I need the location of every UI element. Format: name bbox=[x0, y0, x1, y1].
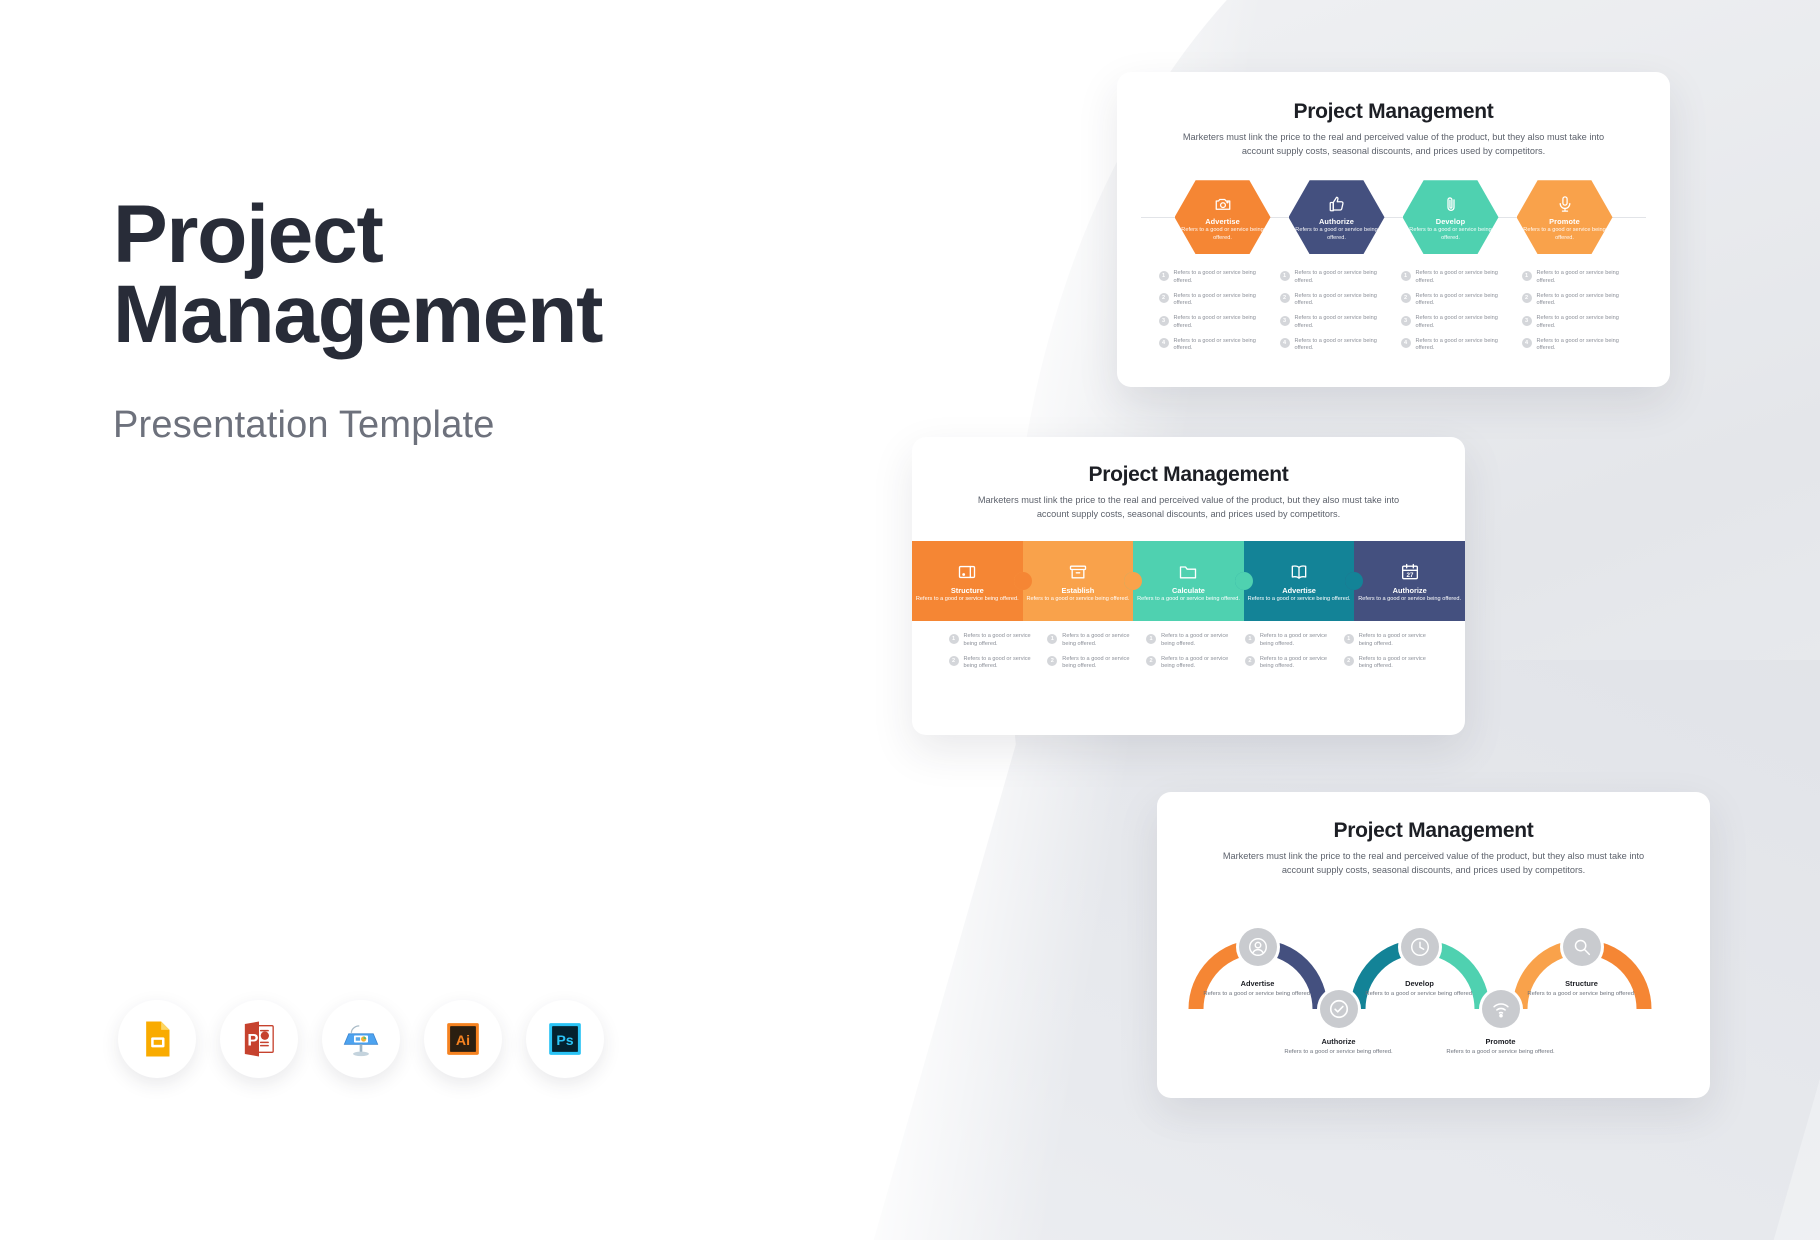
bullet-text: Refers to a good or service being offere… bbox=[1416, 315, 1508, 330]
hexagon-sublabel: Refers to a good or service being offere… bbox=[1517, 227, 1613, 242]
bullet-item: 2Refers to a good or service being offer… bbox=[1522, 293, 1629, 308]
arc-label-develop: Develop Refers to a good or service bein… bbox=[1360, 979, 1480, 998]
puzzle-sublabel: Refers to a good or service being offere… bbox=[1026, 596, 1129, 604]
bullet-item: 4Refers to a good or service being offer… bbox=[1401, 338, 1508, 353]
bullet-number: 1 bbox=[1344, 634, 1354, 644]
arc-label-name: Develop bbox=[1360, 979, 1480, 988]
hexagon-label: Develop bbox=[1436, 217, 1465, 226]
bullet-item: 3Refers to a good or service being offer… bbox=[1159, 315, 1266, 330]
svg-text:P: P bbox=[247, 1031, 258, 1050]
bullet-item: 3Refers to a good or service being offer… bbox=[1522, 315, 1629, 330]
bullet-item: 2Refers to a good or service being offer… bbox=[1146, 656, 1231, 671]
bullet-item: 1Refers to a good or service being offer… bbox=[1344, 633, 1429, 648]
bullet-column: 1Refers to a good or service being offer… bbox=[1245, 633, 1330, 671]
bullet-text: Refers to a good or service being offere… bbox=[1537, 270, 1629, 285]
app-chip-keynote[interactable] bbox=[322, 1000, 400, 1078]
bullet-text: Refers to a good or service being offere… bbox=[1537, 338, 1629, 353]
check-icon bbox=[1328, 998, 1350, 1020]
arc-label-structure: Structure Refers to a good or service be… bbox=[1522, 979, 1642, 998]
hexagon-sublabel: Refers to a good or service being offere… bbox=[1175, 227, 1271, 242]
bullet-number: 1 bbox=[1146, 634, 1156, 644]
bullet-item: 2Refers to a good or service being offer… bbox=[1280, 293, 1387, 308]
bullet-number: 4 bbox=[1280, 338, 1290, 348]
bullet-text: Refers to a good or service being offere… bbox=[1260, 656, 1330, 671]
bullet-number: 2 bbox=[949, 656, 959, 666]
bullet-item: 2Refers to a good or service being offer… bbox=[1159, 293, 1266, 308]
hexagon-label: Advertise bbox=[1205, 217, 1240, 226]
bullet-number: 1 bbox=[1522, 271, 1532, 281]
bullet-item: 1Refers to a good or service being offer… bbox=[1280, 270, 1387, 285]
puzzle-sublabel: Refers to a good or service being offere… bbox=[916, 596, 1019, 604]
slide-hex-description: Marketers must link the price to the rea… bbox=[1179, 131, 1609, 158]
page-root: Project Management Presentation Template… bbox=[0, 0, 1820, 1240]
bullet-text: Refers to a good or service being offere… bbox=[1161, 656, 1231, 671]
puzzle-knob bbox=[1014, 572, 1032, 590]
arc-node-authorize[interactable] bbox=[1320, 990, 1358, 1028]
bullet-number: 2 bbox=[1245, 656, 1255, 666]
photoshop-icon: Ps bbox=[545, 1019, 585, 1059]
bullet-item: 4Refers to a good or service being offer… bbox=[1159, 338, 1266, 353]
paperclip-icon bbox=[1442, 194, 1460, 214]
arc-label-sub: Refers to a good or service being offere… bbox=[1360, 990, 1480, 998]
puzzle-item-calculate[interactable]: Calculate Refers to a good or service be… bbox=[1133, 541, 1244, 621]
bullet-number: 1 bbox=[1280, 271, 1290, 281]
bullet-item: 2Refers to a good or service being offer… bbox=[1047, 656, 1132, 671]
puzzle-knob bbox=[1124, 572, 1142, 590]
bullet-item: 1Refers to a good or service being offer… bbox=[1047, 633, 1132, 648]
puzzle-item-authorize[interactable]: 27 Authorize Refers to a good or service… bbox=[1354, 541, 1465, 621]
arc-label-sub: Refers to a good or service being offere… bbox=[1279, 1048, 1399, 1056]
powerpoint-icon: P bbox=[239, 1019, 279, 1059]
svg-text:Ai: Ai bbox=[456, 1033, 470, 1049]
bullet-column: 1Refers to a good or service being offer… bbox=[1159, 270, 1266, 353]
bullet-text: Refers to a good or service being offere… bbox=[1295, 315, 1387, 330]
box-icon bbox=[1068, 561, 1088, 583]
app-chip-photoshop[interactable]: Ps bbox=[526, 1000, 604, 1078]
bullet-number: 4 bbox=[1401, 338, 1411, 348]
bullet-text: Refers to a good or service being offere… bbox=[1295, 293, 1387, 308]
bullet-number: 1 bbox=[1245, 634, 1255, 644]
slide-arc-title: Project Management bbox=[1157, 819, 1710, 843]
bullet-text: Refers to a good or service being offere… bbox=[1416, 270, 1508, 285]
bullet-number: 2 bbox=[1280, 293, 1290, 303]
microphone-icon bbox=[1556, 194, 1574, 214]
bullet-text: Refers to a good or service being offere… bbox=[1537, 293, 1629, 308]
hexagon-sublabel: Refers to a good or service being offere… bbox=[1289, 227, 1385, 242]
arc-diagram: Advertise Refers to a good or service be… bbox=[1184, 887, 1684, 1077]
arc-node-develop[interactable] bbox=[1401, 928, 1439, 966]
camera-icon bbox=[1214, 194, 1232, 214]
bullet-number: 2 bbox=[1344, 656, 1354, 666]
person-icon bbox=[1247, 936, 1269, 958]
calendar-icon: 27 bbox=[1400, 561, 1420, 583]
puzzle-sublabel: Refers to a good or service being offere… bbox=[1137, 596, 1240, 604]
arc-label-sub: Refers to a good or service being offere… bbox=[1522, 990, 1642, 998]
illustrator-icon: Ai bbox=[443, 1019, 483, 1059]
bullet-number: 1 bbox=[1159, 271, 1169, 281]
puzzle-item-advertise[interactable]: Advertise Refers to a good or service be… bbox=[1244, 541, 1355, 621]
bullet-number: 2 bbox=[1146, 656, 1156, 666]
puzzle-sublabel: Refers to a good or service being offere… bbox=[1248, 596, 1351, 604]
bullet-number: 2 bbox=[1522, 293, 1532, 303]
bullet-item: 1Refers to a good or service being offer… bbox=[1159, 270, 1266, 285]
slide-hex-title: Project Management bbox=[1117, 100, 1670, 124]
puzzle-label: Establish bbox=[1061, 586, 1094, 595]
arc-node-promote[interactable] bbox=[1482, 990, 1520, 1028]
hexagon-bullet-grid: 1Refers to a good or service being offer… bbox=[1159, 270, 1629, 353]
bullet-text: Refers to a good or service being offere… bbox=[1416, 338, 1508, 353]
hero-block: Project Management Presentation Template bbox=[113, 195, 753, 447]
bullet-number: 3 bbox=[1280, 316, 1290, 326]
bullet-item: 2Refers to a good or service being offer… bbox=[1245, 656, 1330, 671]
bullet-item: 4Refers to a good or service being offer… bbox=[1280, 338, 1387, 353]
puzzle-label: Structure bbox=[951, 586, 984, 595]
slide-puzzle-description: Marketers must link the price to the rea… bbox=[974, 494, 1404, 521]
bullet-number: 3 bbox=[1522, 316, 1532, 326]
book-icon bbox=[957, 561, 977, 583]
bullet-text: Refers to a good or service being offere… bbox=[1295, 338, 1387, 353]
bullet-text: Refers to a good or service being offere… bbox=[1062, 633, 1132, 648]
hexagon-item-authorize[interactable]: Authorize Refers to a good or service be… bbox=[1289, 180, 1385, 254]
puzzle-knob bbox=[1235, 572, 1253, 590]
bullet-column: 1Refers to a good or service being offer… bbox=[1401, 270, 1508, 353]
puzzle-label: Advertise bbox=[1282, 586, 1316, 595]
page-subtitle: Presentation Template bbox=[113, 404, 753, 447]
bullet-column: 1Refers to a good or service being offer… bbox=[1280, 270, 1387, 353]
arc-label-name: Promote bbox=[1441, 1037, 1561, 1046]
bullet-text: Refers to a good or service being offere… bbox=[1161, 633, 1231, 648]
puzzle-sublabel: Refers to a good or service being offere… bbox=[1358, 596, 1461, 604]
bullet-item: 2Refers to a good or service being offer… bbox=[1401, 293, 1508, 308]
arc-node-structure[interactable] bbox=[1563, 928, 1601, 966]
puzzle-knob bbox=[1345, 572, 1363, 590]
bullet-number: 4 bbox=[1522, 338, 1532, 348]
bullet-item: 1Refers to a good or service being offer… bbox=[1522, 270, 1629, 285]
puzzle-diagram: Structure Refers to a good or service be… bbox=[912, 541, 1465, 621]
slide-puzzle-title: Project Management bbox=[912, 463, 1465, 487]
hexagon-sublabel: Refers to a good or service being offere… bbox=[1403, 227, 1499, 242]
puzzle-label: Authorize bbox=[1393, 586, 1427, 595]
bullet-number: 3 bbox=[1401, 316, 1411, 326]
arc-label-authorize: Authorize Refers to a good or service be… bbox=[1279, 1037, 1399, 1056]
slide-card-arc[interactable]: Project Management Marketers must link t… bbox=[1157, 792, 1710, 1098]
bullet-text: Refers to a good or service being offere… bbox=[1174, 338, 1266, 353]
bullet-number: 2 bbox=[1401, 293, 1411, 303]
bullet-text: Refers to a good or service being offere… bbox=[1174, 315, 1266, 330]
hexagon-label: Authorize bbox=[1319, 217, 1354, 226]
app-chip-illustrator[interactable]: Ai bbox=[424, 1000, 502, 1078]
bullet-column: 1Refers to a good or service being offer… bbox=[949, 633, 1034, 671]
bullet-text: Refers to a good or service being offere… bbox=[964, 633, 1034, 648]
arc-label-name: Structure bbox=[1522, 979, 1642, 988]
bullet-number: 1 bbox=[1047, 634, 1057, 644]
bullet-item: 3Refers to a good or service being offer… bbox=[1280, 315, 1387, 330]
keynote-icon bbox=[340, 1018, 382, 1060]
bullet-number: 1 bbox=[949, 634, 959, 644]
bullet-text: Refers to a good or service being offere… bbox=[1174, 270, 1266, 285]
arc-label-advertise: Advertise Refers to a good or service be… bbox=[1198, 979, 1318, 998]
bullet-item: 1Refers to a good or service being offer… bbox=[1245, 633, 1330, 648]
bullet-number: 2 bbox=[1047, 656, 1057, 666]
bullet-column: 1Refers to a good or service being offer… bbox=[1146, 633, 1231, 671]
bullet-item: 3Refers to a good or service being offer… bbox=[1401, 315, 1508, 330]
bullet-column: 1Refers to a good or service being offer… bbox=[1522, 270, 1629, 353]
bullet-number: 1 bbox=[1401, 271, 1411, 281]
open-book-icon bbox=[1289, 561, 1309, 583]
bullet-item: 2Refers to a good or service being offer… bbox=[949, 656, 1034, 671]
clock-icon bbox=[1409, 936, 1431, 958]
wifi-icon bbox=[1490, 998, 1512, 1020]
puzzle-bullet-grid: 1Refers to a good or service being offer… bbox=[949, 633, 1429, 671]
arc-node-advertise[interactable] bbox=[1239, 928, 1277, 966]
arc-label-name: Authorize bbox=[1279, 1037, 1399, 1046]
bullet-text: Refers to a good or service being offere… bbox=[1260, 633, 1330, 648]
app-format-list: P Ai bbox=[118, 1000, 604, 1078]
puzzle-item-establish[interactable]: Establish Refers to a good or service be… bbox=[1023, 541, 1134, 621]
bullet-text: Refers to a good or service being offere… bbox=[1359, 656, 1429, 671]
bullet-column: 1Refers to a good or service being offer… bbox=[1344, 633, 1429, 671]
puzzle-label: Calculate bbox=[1172, 586, 1205, 595]
hexagon-item-promote[interactable]: Promote Refers to a good or service bein… bbox=[1517, 180, 1613, 254]
app-chip-google-slides[interactable] bbox=[118, 1000, 196, 1078]
bullet-column: 1Refers to a good or service being offer… bbox=[1047, 633, 1132, 671]
bullet-item: 1Refers to a good or service being offer… bbox=[1401, 270, 1508, 285]
folder-icon bbox=[1178, 561, 1198, 583]
calendar-day-number: 27 bbox=[1406, 572, 1413, 579]
app-chip-powerpoint[interactable]: P bbox=[220, 1000, 298, 1078]
google-slides-icon bbox=[137, 1019, 177, 1059]
slide-arc-description: Marketers must link the price to the rea… bbox=[1219, 850, 1649, 877]
arc-label-name: Advertise bbox=[1198, 979, 1318, 988]
slide-card-hexagon[interactable]: Project Management Marketers must link t… bbox=[1117, 72, 1670, 387]
svg-text:Ps: Ps bbox=[556, 1033, 573, 1049]
bullet-text: Refers to a good or service being offere… bbox=[1174, 293, 1266, 308]
bullet-number: 3 bbox=[1159, 316, 1169, 326]
bullet-number: 4 bbox=[1159, 338, 1169, 348]
arc-label-sub: Refers to a good or service being offere… bbox=[1441, 1048, 1561, 1056]
hexagon-label: Promote bbox=[1549, 217, 1580, 226]
slide-card-puzzle[interactable]: Project Management Marketers must link t… bbox=[912, 437, 1465, 735]
puzzle-item-structure[interactable]: Structure Refers to a good or service be… bbox=[912, 541, 1023, 621]
hexagon-item-develop[interactable]: Develop Refers to a good or service bein… bbox=[1403, 180, 1499, 254]
page-title: Project Management bbox=[113, 195, 753, 356]
bullet-text: Refers to a good or service being offere… bbox=[1062, 656, 1132, 671]
bullet-item: 1Refers to a good or service being offer… bbox=[1146, 633, 1231, 648]
bullet-item: 4Refers to a good or service being offer… bbox=[1522, 338, 1629, 353]
bullet-text: Refers to a good or service being offere… bbox=[1295, 270, 1387, 285]
page-title-line1: Project bbox=[113, 195, 753, 275]
page-title-line2: Management bbox=[113, 275, 753, 355]
hexagon-item-advertise[interactable]: Advertise Refers to a good or service be… bbox=[1175, 180, 1271, 254]
arc-label-promote: Promote Refers to a good or service bein… bbox=[1441, 1037, 1561, 1056]
bullet-number: 2 bbox=[1159, 293, 1169, 303]
bullet-item: 2Refers to a good or service being offer… bbox=[1344, 656, 1429, 671]
magnifier-icon bbox=[1571, 936, 1593, 958]
bullet-text: Refers to a good or service being offere… bbox=[964, 656, 1034, 671]
bullet-text: Refers to a good or service being offere… bbox=[1537, 315, 1629, 330]
hexagon-diagram: Advertise Refers to a good or service be… bbox=[1117, 180, 1670, 254]
bullet-text: Refers to a good or service being offere… bbox=[1416, 293, 1508, 308]
thumbs-up-icon bbox=[1328, 194, 1346, 214]
bullet-text: Refers to a good or service being offere… bbox=[1359, 633, 1429, 648]
arc-label-sub: Refers to a good or service being offere… bbox=[1198, 990, 1318, 998]
bullet-item: 1Refers to a good or service being offer… bbox=[949, 633, 1034, 648]
